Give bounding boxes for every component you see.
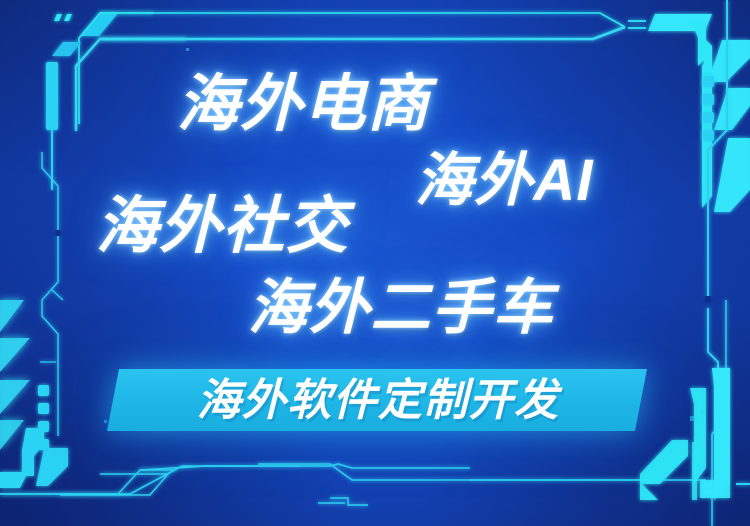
headline-overseas-ecommerce: 海外电商 (177, 74, 430, 136)
headline-overseas-ai: 海外AI (415, 152, 594, 210)
banner-label-software-custom-development: 海外软件定制开发 (128, 379, 628, 423)
headline-overseas-social: 海外社交 (96, 196, 349, 258)
headline-overseas-used-cars: 海外二手车 (248, 278, 554, 338)
headline-group: 海外电商 海外AI 海外社交 海外二手车 (0, 0, 750, 526)
poster-canvas: 海外电商 海外AI 海外社交 海外二手车 海外软件定制开发 (0, 0, 750, 526)
